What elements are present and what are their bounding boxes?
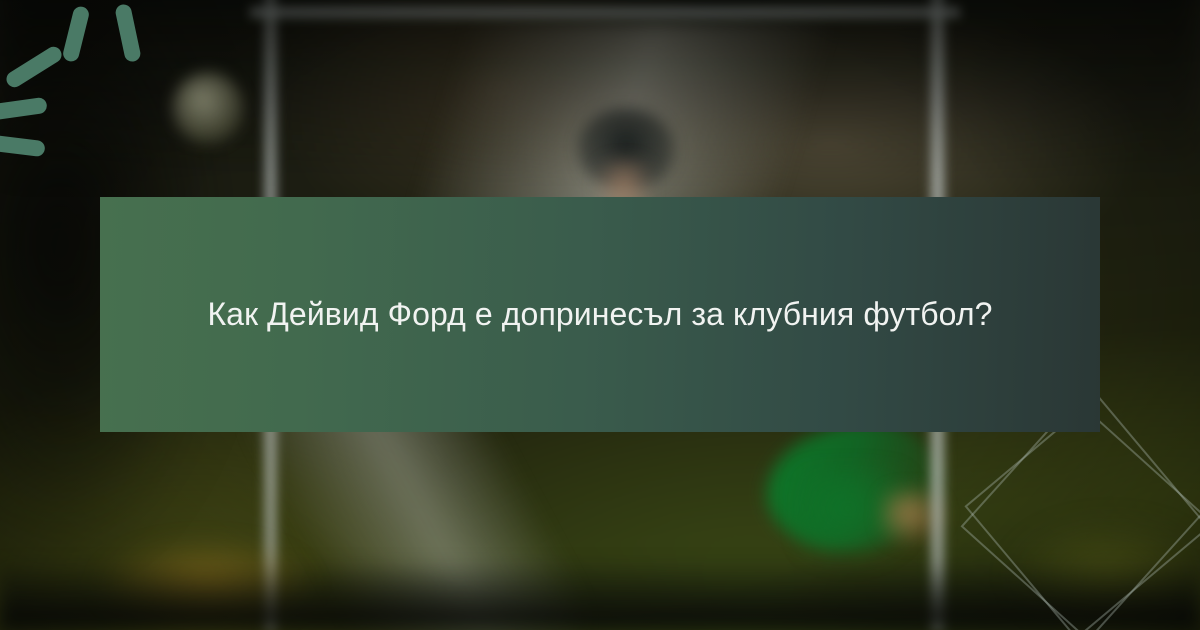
sparkle-ray-1 <box>61 5 90 63</box>
sparkle-burst-icon <box>0 0 180 150</box>
sparkle-ray-3 <box>3 44 64 90</box>
share-card-canvas: Как Дейвид Форд е допринесъл за клубния … <box>0 0 1200 630</box>
page-title: Как Дейвид Форд е допринесъл за клубния … <box>207 289 992 341</box>
sparkle-ray-2 <box>114 3 142 63</box>
sparkle-ray-4 <box>0 97 48 121</box>
headline-card: Как Дейвид Форд е допринесъл за клубния … <box>100 197 1100 432</box>
